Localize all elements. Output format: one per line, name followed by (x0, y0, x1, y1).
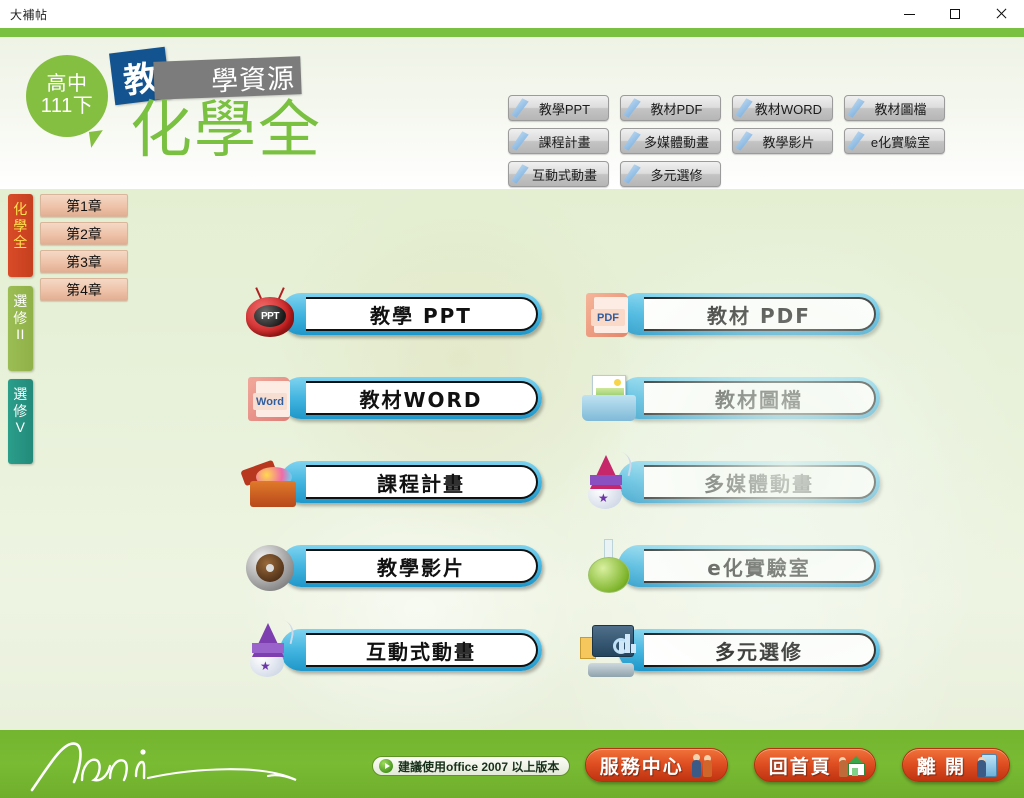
menu-item-teaching-ppt[interactable]: PPT 教學 PPT (240, 281, 542, 347)
menu-item-multimedia-animation[interactable]: ★ 多媒體動畫 (578, 449, 880, 515)
quicknav-label: 教材PDF (638, 99, 702, 118)
quicknav-label: 教材WORD (743, 99, 822, 118)
chapter-button-3[interactable]: 第3章 (40, 250, 128, 273)
word-book-icon: Word (240, 367, 302, 429)
window-controls (886, 0, 1024, 28)
menu-item-label: 教材圖檔 (644, 381, 876, 415)
close-button[interactable] (978, 0, 1024, 28)
sidebar-tab-char: 選 (13, 386, 28, 403)
menu-item-material-word[interactable]: Word 教材WORD (240, 365, 542, 431)
image-folder-icon (578, 367, 640, 429)
quicknav-pdf[interactable]: 教材PDF (620, 95, 721, 121)
sidebar-tab-char: 學 (13, 218, 28, 235)
quicknav-label: 互動式動畫 (520, 165, 597, 184)
chapter-button-4[interactable]: 第4章 (40, 278, 128, 301)
quicknav-label: e化實驗室 (859, 132, 930, 151)
quicknav-elab[interactable]: e化實驗室 (844, 128, 945, 154)
menu-pill: 課程計畫 (280, 461, 542, 503)
top-accent-bar (0, 28, 1024, 37)
quicknav-elective[interactable]: 多元選修 (620, 161, 721, 187)
exit-label: 離 開 (917, 752, 966, 779)
sidebar-item-elective-5[interactable]: 選 修 V (8, 379, 33, 464)
maximize-icon (950, 9, 960, 19)
menu-item-label: 課程計畫 (306, 465, 538, 499)
sidebar-tab-char: 全 (13, 234, 28, 251)
chapter-button-1[interactable]: 第1章 (40, 194, 128, 217)
sidebar-item-elective-2[interactable]: 選 修 II (8, 286, 33, 371)
quicknav-video[interactable]: 教學影片 (732, 128, 833, 154)
tv-ppt-icon: PPT (240, 283, 302, 345)
menu-item-interactive-animation[interactable]: ★ 互動式動畫 (240, 617, 542, 683)
menu-item-label: 教學 PPT (306, 297, 538, 331)
quicknav-word[interactable]: 教材WORD (732, 95, 833, 121)
quicknav-bar: 教學PPT 教材PDF 教材WORD 教材圖檔 課程計畫 多媒體動畫 教學影片 … (508, 95, 1008, 194)
service-center-label: 服務中心 (600, 752, 684, 779)
menu-item-label: 互動式動畫 (306, 633, 538, 667)
content-area: 化 學 全 選 修 II 選 修 V 第1章 第2章 第3章 第4章 PPT (0, 189, 1024, 730)
quicknav-label: 教學影片 (750, 132, 814, 151)
brand-block: 高中 111下 教 學資源 化學全 (22, 43, 332, 183)
office-version-notice: 建議使用office 2007 以上版本 (372, 756, 570, 776)
menu-item-label: 教學影片 (306, 549, 538, 583)
menu-item-diverse-electives[interactable]: 多元選修 (578, 617, 880, 683)
sidebar-tab-char: 選 (13, 293, 28, 310)
menu-pill: 教學 PPT (280, 293, 542, 335)
office-notice-label: 建議使用office 2007 以上版本 (398, 758, 559, 775)
quicknav-syllabus[interactable]: 課程計畫 (508, 128, 609, 154)
footer-buttons: 服務中心 回首頁 離 開 (585, 748, 1010, 782)
nani-logo (24, 734, 324, 794)
menu-pill: 多元選修 (618, 629, 880, 671)
menu-item-label: 多媒體動畫 (644, 465, 876, 499)
menu-pill: 教材圖檔 (618, 377, 880, 419)
menu-item-material-pdf[interactable]: PDF 教材 PDF (578, 281, 880, 347)
app-header: 高中 111下 教 學資源 化學全 教學PPT 教材PDF 教材WORD 教材圖… (0, 37, 1024, 189)
treasure-box-icon (240, 451, 302, 513)
semester-label: 111下 (41, 96, 93, 118)
wizard-hat-purple-icon: ★ (240, 619, 302, 681)
menu-item-label: 多元選修 (644, 633, 876, 667)
grade-label: 高中 (47, 74, 88, 96)
monitor-chart-icon (578, 619, 640, 681)
quicknav-label: 課程計畫 (526, 132, 590, 151)
quicknav-label: 教學PPT (527, 99, 590, 118)
page-title: 化學全 (130, 99, 322, 161)
close-icon (995, 8, 1007, 20)
chapter-list: 第1章 第2章 第3章 第4章 (40, 194, 128, 306)
quicknav-label: 多媒體動畫 (632, 132, 709, 151)
window-titlebar: 大補帖 (0, 0, 1024, 28)
quicknav-images[interactable]: 教材圖檔 (844, 95, 945, 121)
film-reel-icon (240, 535, 302, 597)
menu-pill: 教學影片 (280, 545, 542, 587)
menu-item-teaching-video[interactable]: 教學影片 (240, 533, 542, 599)
sidebar-item-chemistry[interactable]: 化 學 全 (8, 194, 33, 277)
quicknav-row: 課程計畫 多媒體動畫 教學影片 e化實驗室 (508, 128, 1008, 154)
chapter-button-2[interactable]: 第2章 (40, 222, 128, 245)
quicknav-label: 多元選修 (638, 165, 702, 184)
sidebar-tab-char: 修 (13, 403, 28, 420)
home-button[interactable]: 回首頁 (754, 748, 876, 782)
window-title: 大補帖 (10, 6, 48, 23)
grade-bubble: 高中 111下 (26, 55, 108, 137)
exit-door-icon (973, 752, 999, 778)
menu-item-material-images[interactable]: 教材圖檔 (578, 365, 880, 431)
sidebar-tab-char: II (16, 326, 25, 343)
menu-pill: 多媒體動畫 (618, 461, 880, 503)
menu-pill: 互動式動畫 (280, 629, 542, 671)
menu-pill: 教材 PDF (618, 293, 880, 335)
maximize-button[interactable] (932, 0, 978, 28)
minimize-button[interactable] (886, 0, 932, 28)
menu-item-label: 教材 PDF (644, 297, 876, 331)
quicknav-multimedia[interactable]: 多媒體動畫 (620, 128, 721, 154)
flask-icon (578, 535, 640, 597)
quicknav-ppt[interactable]: 教學PPT (508, 95, 609, 121)
home-icon (839, 752, 865, 778)
quicknav-label: 教材圖檔 (862, 99, 926, 118)
menu-item-label: e化實驗室 (644, 549, 876, 583)
quicknav-row: 教學PPT 教材PDF 教材WORD 教材圖檔 (508, 95, 1008, 121)
menu-pill: e化實驗室 (618, 545, 880, 587)
home-label: 回首頁 (769, 752, 832, 779)
minimize-icon (904, 14, 915, 15)
exit-button[interactable]: 離 開 (902, 748, 1010, 782)
quicknav-row: 互動式動畫 多元選修 (508, 161, 1008, 187)
sidebar-tab-char: 化 (13, 201, 28, 218)
menu-item-label: 教材WORD (306, 381, 538, 415)
sidebar-tab-char: 修 (13, 310, 28, 327)
play-icon (379, 759, 393, 773)
service-center-button[interactable]: 服務中心 (585, 748, 728, 782)
quicknav-interactive[interactable]: 互動式動畫 (508, 161, 609, 187)
sidebar-tab-char: V (16, 419, 26, 436)
menu-pill: 教材WORD (280, 377, 542, 419)
main-menu-grid: PPT 教學 PPT PDF 教材 PDF Word 教材WORD (240, 281, 880, 683)
menu-item-course-plan[interactable]: 課程計畫 (240, 449, 542, 515)
wizard-hat-pink-icon: ★ (578, 451, 640, 513)
pdf-book-icon: PDF (578, 283, 640, 345)
menu-item-e-lab[interactable]: e化實驗室 (578, 533, 880, 599)
service-people-icon (691, 752, 717, 778)
